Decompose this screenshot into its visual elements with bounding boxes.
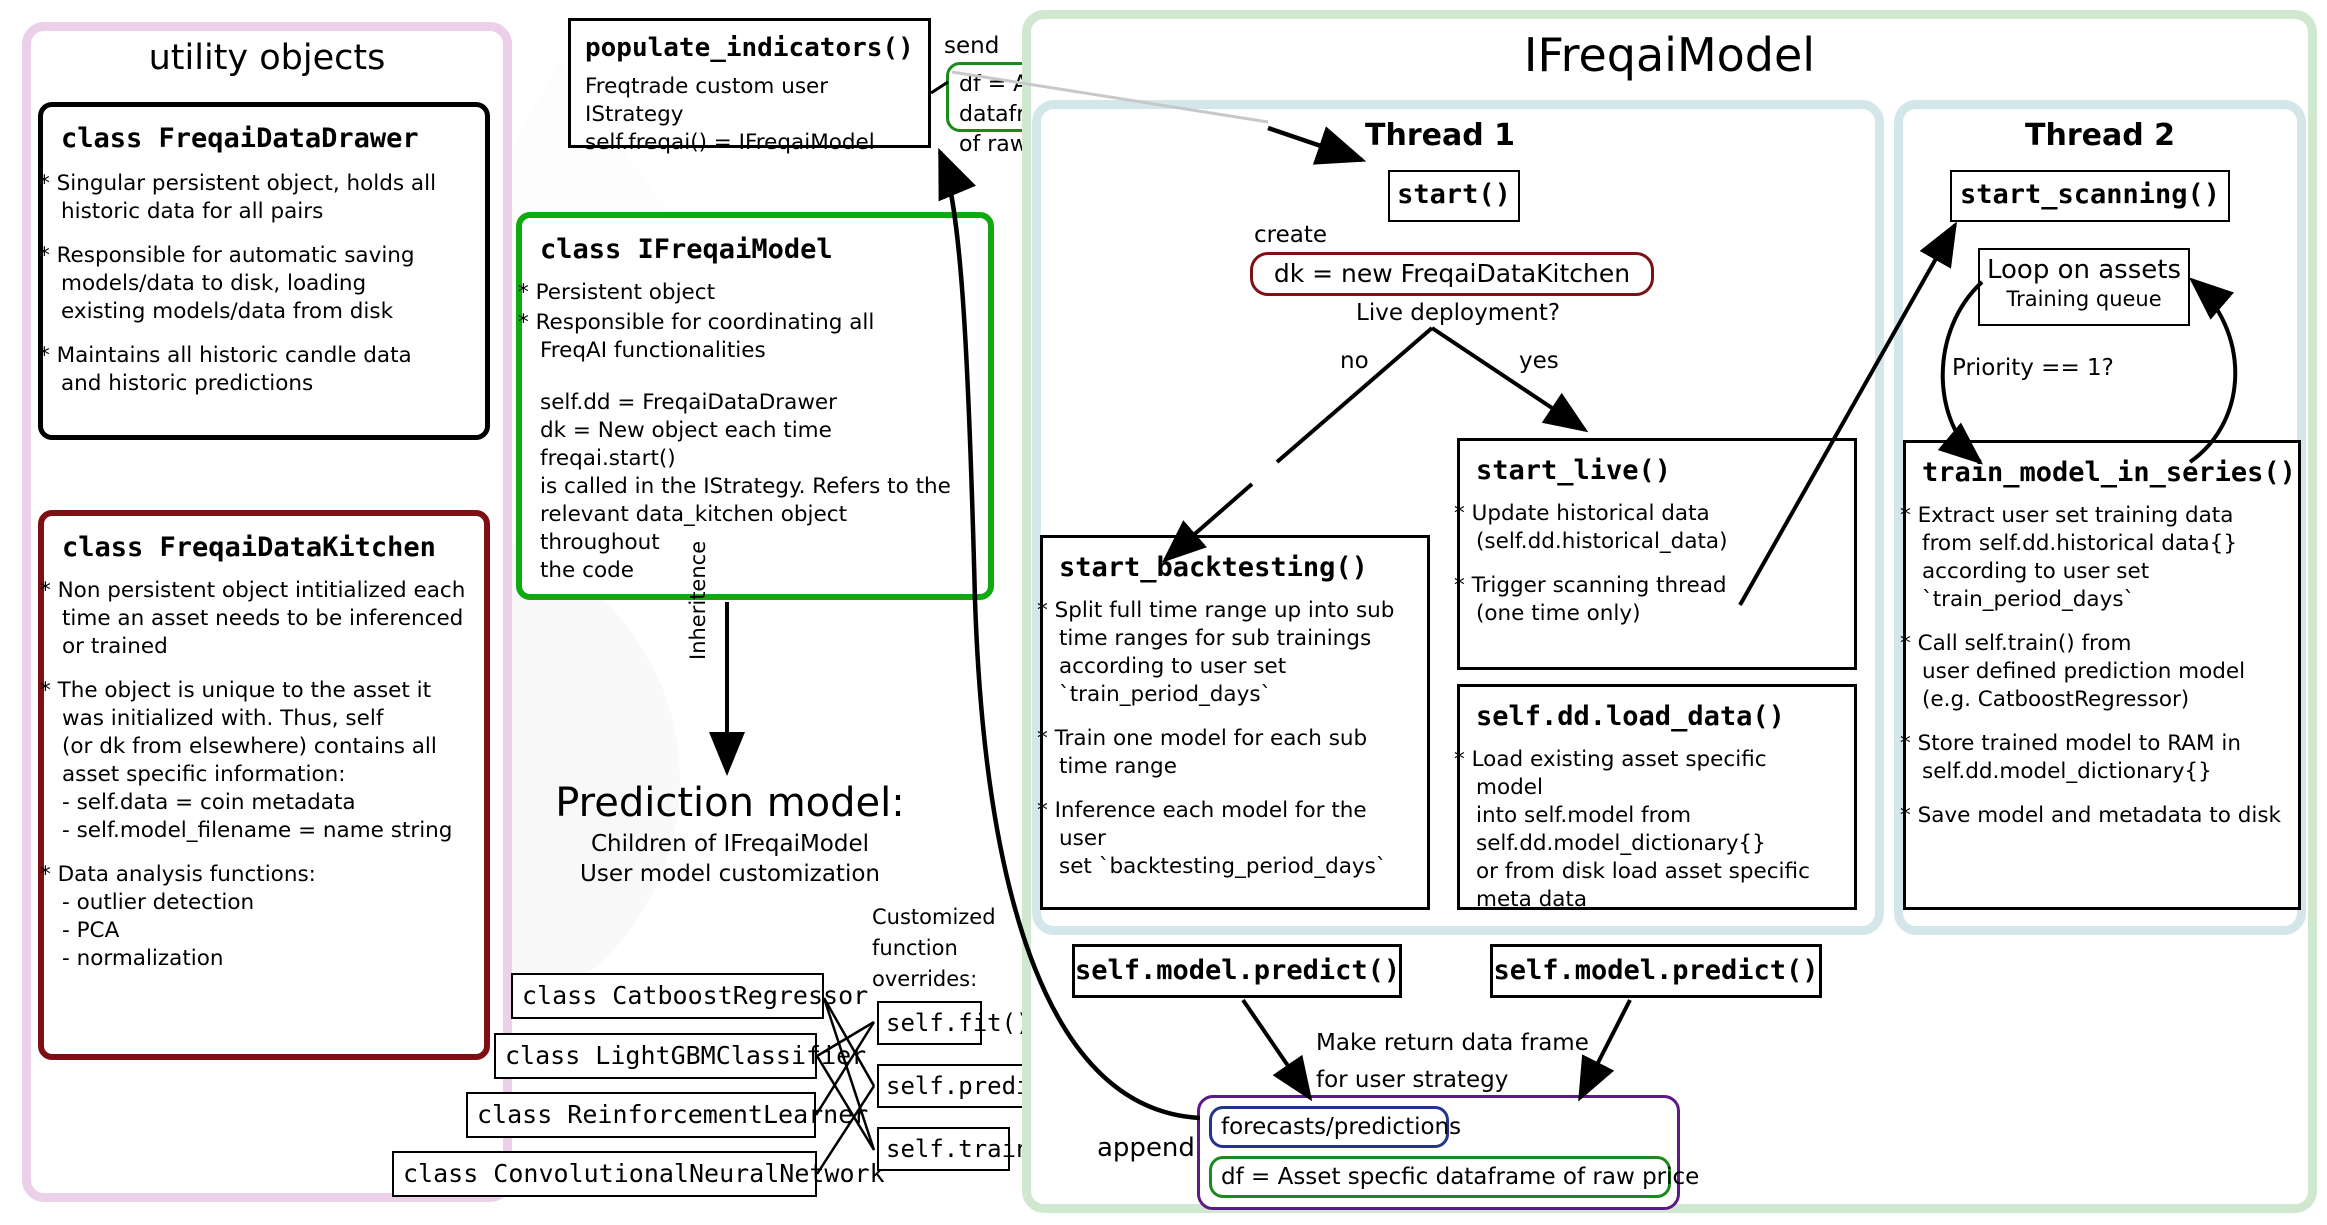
list-item: * Update historical data (self.dd.histor… [1476, 500, 1838, 556]
train-model-in-series-box: train_model_in_series() * Extract user s… [1903, 440, 2301, 910]
freqai-data-kitchen-title: class FreqaiDataKitchen [62, 532, 466, 563]
customized-overrides-label-line2: function [872, 936, 958, 960]
list-item: * Persistent object [540, 279, 970, 307]
forecasts-predictions-label: forecasts/predictions [1212, 1109, 1446, 1145]
note-line: dk = New object each time freqai.start() [540, 417, 970, 473]
live-deployment-label: Live deployment? [1356, 300, 1560, 326]
override-label: self.train() [879, 1129, 1008, 1169]
list-item: * Responsible for coordinating all FreqA… [540, 309, 970, 365]
dk-new-kitchen-callout: dk = new FreqaiDataKitchen [1250, 252, 1654, 296]
create-label: create [1254, 222, 1327, 248]
loop-on-assets-line2: Training queue [1980, 286, 2188, 312]
start-scanning-box: start_scanning() [1950, 170, 2230, 222]
freqai-data-kitchen-bullets: * Non persistent object intitialized eac… [62, 577, 466, 973]
list-item: * Split full time range up into sub time… [1059, 597, 1411, 709]
start-backtesting-bullets: * Split full time range up into sub time… [1059, 597, 1411, 881]
priority-label: Priority == 1? [1952, 355, 2114, 381]
list-item: * Maintains all historic candle data and… [61, 342, 467, 398]
list-item: * Responsible for automatic saving model… [61, 242, 467, 326]
customized-overrides-label-line3: overrides: [872, 967, 977, 991]
override-box-self-train: self.train() [877, 1127, 1010, 1171]
df-raw-price-label: df = Asset specfic dataframe of raw pric… [1212, 1159, 1668, 1195]
start-box: start() [1388, 170, 1520, 222]
override-box-self-predict: self.predict() [877, 1064, 1029, 1108]
df-raw-price-chip: df = Asset specfic dataframe of raw pric… [1209, 1156, 1671, 1198]
populate-indicators-line2: self.freqai() = IFreqaiModel [585, 129, 914, 157]
note-line: self.dd = FreqaiDataDrawer [540, 389, 970, 417]
note-line: is called in the IStrategy. Refers to th… [540, 473, 970, 501]
branch-no-label: no [1340, 348, 1369, 374]
load-data-title: self.dd.load_data() [1476, 701, 1838, 732]
list-item: * Data analysis functions: - outlier det… [62, 861, 466, 973]
list-item: * Singular persistent object, holds all … [61, 170, 467, 226]
send-label: send [944, 33, 999, 59]
ifreqai-model-bullets: * Persistent object * Responsible for co… [540, 279, 970, 365]
dk-callout-label: dk = new FreqaiDataKitchen [1253, 255, 1651, 293]
prediction-model-subtitle-2: User model customization [520, 860, 940, 888]
start-live-title: start_live() [1476, 455, 1838, 486]
self-model-predict-right-box: self.model.predict() [1490, 944, 1822, 998]
loop-on-assets-line1: Loop on assets [1980, 254, 2188, 286]
override-box-self-fit: self.fit() [877, 1001, 982, 1045]
loop-on-assets-box: Loop on assets Training queue [1978, 248, 2190, 326]
ifreqai-model-class-box: class IFreqaiModel * Persistent object *… [516, 212, 994, 600]
ifreqai-model-notes: self.dd = FreqaiDataDrawer dk = New obje… [540, 389, 970, 585]
predict-right-label: self.model.predict() [1493, 947, 1819, 995]
class-label: class ConvolutionalNeuralNetwork [394, 1153, 815, 1195]
return-dataframe-box: forecasts/predictions df = Asset specfic… [1197, 1095, 1680, 1210]
freqai-data-drawer-box: class FreqaiDataDrawer * Singular persis… [38, 102, 490, 440]
predict-left-label: self.model.predict() [1075, 947, 1399, 995]
populate-indicators-box: populate_indicators() Freqtrade custom u… [568, 18, 931, 148]
diagram-canvas: ₿ AI utility objects class FreqaiDataDra… [0, 0, 2327, 1225]
list-item: * Trigger scanning thread (one time only… [1476, 572, 1838, 628]
class-box-convolutional-neural-network: class ConvolutionalNeuralNetwork [392, 1151, 817, 1197]
start-scanning-label: start_scanning() [1952, 172, 2228, 218]
start-backtesting-title: start_backtesting() [1059, 552, 1411, 583]
populate-indicators-title: populate_indicators() [585, 33, 914, 63]
override-label: self.fit() [879, 1003, 980, 1043]
note-line: the code [540, 557, 970, 585]
list-item: * Inference each model for the user set … [1059, 797, 1411, 881]
prediction-model-title: Prediction model: [520, 780, 940, 826]
ifreqai-model-class-title: class IFreqaiModel [540, 234, 970, 265]
branch-yes-label: yes [1519, 348, 1559, 374]
class-box-lightgbm-classifier: class LightGBMClassifier [494, 1033, 817, 1079]
class-label: class LightGBMClassifier [496, 1035, 815, 1077]
list-item: * Save model and metadata to disk [1922, 802, 2282, 830]
class-label: class CatboostRegressor [513, 975, 822, 1017]
start-live-box: start_live() * Update historical data (s… [1457, 438, 1857, 670]
ifreqai-model-panel-title: IFreqaiModel [1022, 28, 2317, 82]
list-item: * The object is unique to the asset it w… [62, 677, 466, 845]
train-model-in-series-title: train_model_in_series() [1922, 457, 2282, 488]
list-item: * Store trained model to RAM in self.dd.… [1922, 730, 2282, 786]
load-data-bullets: * Load existing asset specific model int… [1476, 746, 1838, 914]
prediction-model-subtitle-1: Children of IFreqaiModel [520, 830, 940, 858]
thread-1-title: Thread 1 [1310, 118, 1570, 153]
utility-objects-title: utility objects [22, 38, 512, 78]
train-model-bullets: * Extract user set training data from se… [1922, 502, 2282, 830]
class-label: class ReinforcementLearner [468, 1094, 814, 1136]
start-backtesting-box: start_backtesting() * Split full time ra… [1040, 535, 1430, 910]
note-line: relevant data_kitchen object throughout [540, 501, 970, 557]
append-label: append [1097, 1133, 1195, 1163]
freqai-data-drawer-title: class FreqaiDataDrawer [61, 123, 467, 154]
freqai-data-kitchen-box: class FreqaiDataKitchen * Non persistent… [38, 510, 490, 1060]
list-item: * Train one model for each sub time rang… [1059, 725, 1411, 781]
inheritance-label: Inheritence [686, 541, 710, 660]
freqai-data-drawer-bullets: * Singular persistent object, holds all … [61, 170, 467, 398]
list-item: * Non persistent object intitialized eac… [62, 577, 466, 661]
start-live-bullets: * Update historical data (self.dd.histor… [1476, 500, 1838, 628]
load-data-box: self.dd.load_data() * Load existing asse… [1457, 684, 1857, 910]
override-label: self.predict() [879, 1066, 1027, 1106]
make-return-dataframe-label-line1: Make return data frame [1316, 1030, 1589, 1056]
list-item: * Load existing asset specific model int… [1476, 746, 1838, 914]
start-label: start() [1390, 172, 1518, 218]
class-box-reinforcement-learner: class ReinforcementLearner [466, 1092, 816, 1138]
list-item: * Extract user set training data from se… [1922, 502, 2282, 614]
make-return-dataframe-label-line2: for user strategy [1316, 1067, 1508, 1093]
forecasts-predictions-chip: forecasts/predictions [1209, 1106, 1449, 1148]
customized-overrides-label-line1: Customized [872, 905, 996, 929]
self-model-predict-left-box: self.model.predict() [1072, 944, 1402, 998]
list-item: * Call self.train() from user defined pr… [1922, 630, 2282, 714]
class-box-catboost-regressor: class CatboostRegressor [511, 973, 824, 1019]
populate-indicators-line1: Freqtrade custom user IStrategy [585, 73, 914, 129]
thread-2-title: Thread 2 [1970, 118, 2230, 153]
